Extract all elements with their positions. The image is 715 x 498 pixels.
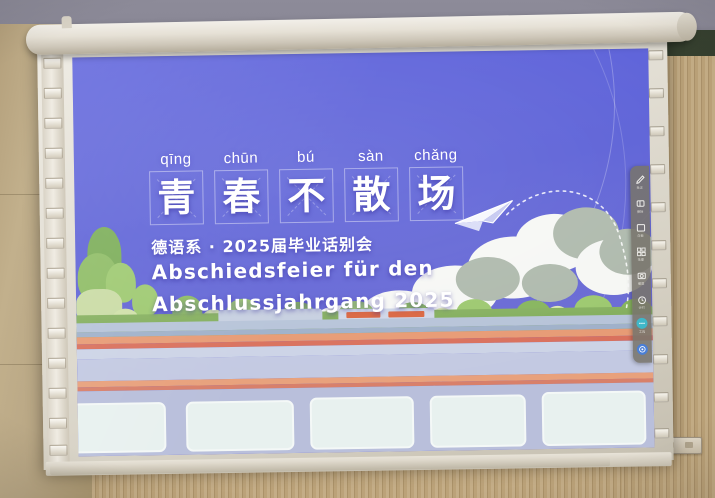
timer-icon (637, 294, 647, 304)
toolbar-label-pen: 批注 (637, 185, 643, 189)
toolbar-item-timer[interactable]: 计时 (632, 291, 651, 313)
subtitle-german-line2: Abschlussjahrgang 2025 (152, 287, 455, 316)
hanzi-1: 春 (222, 178, 261, 217)
projector-screen: qīng 青 chūn 春 bú 不 (37, 30, 674, 470)
grid-box-2: 不 (279, 168, 334, 223)
toolbar-label-timer: 计时 (639, 305, 645, 309)
pinyin-1: chūn (223, 150, 258, 168)
subtitle-chinese: 德语系 · 2025届毕业话别会 (151, 231, 373, 258)
headline-cell-4: chǎng 场 (408, 146, 465, 221)
headline-cell-3: sàn 散 (343, 147, 400, 222)
headline-cell-0: qīng 青 (148, 150, 205, 225)
pinyin-4: chǎng (414, 146, 458, 164)
grid-box-4: 场 (409, 166, 464, 221)
grid-box-1: 春 (214, 169, 269, 224)
toolbar-item-capture[interactable]: 截屏 (632, 267, 651, 289)
hanzi-0: 青 (157, 179, 196, 218)
assist-icon (637, 344, 648, 355)
toolbar-label-grid: 批量 (638, 257, 644, 261)
more-icon (636, 318, 647, 329)
headline-cell-2: bú 不 (278, 148, 335, 223)
toolbar-label-capture: 截屏 (638, 281, 644, 285)
hanzi-4: 场 (417, 174, 456, 213)
headline-cell-1: chūn 春 (213, 149, 270, 224)
grid-box-0: 青 (149, 170, 204, 225)
screenshot-root: qīng 青 chūn 春 bú 不 (0, 0, 715, 498)
toolbar-label-frame: 白板 (637, 233, 643, 237)
projected-slide: qīng 青 chūn 春 bú 不 (72, 48, 654, 456)
toolbar-item-grid[interactable]: 批量 (631, 243, 650, 265)
pinyin-2: bú (297, 149, 315, 166)
grid-box-3: 散 (344, 167, 399, 222)
toolbar-item-eraser[interactable]: 擦除 (630, 195, 649, 217)
toolbar-label-more: 工具 (639, 330, 645, 334)
slide-headline: qīng 青 chūn 春 bú 不 (148, 146, 465, 225)
pinyin-3: sàn (358, 148, 384, 165)
toolbar-item-pen[interactable]: 批注 (630, 171, 649, 193)
frame-icon (635, 222, 645, 232)
eraser-icon (635, 198, 645, 208)
subtitle-german-line1: Abschiedsfeier für den (151, 256, 434, 284)
plane-trail-icon (504, 178, 646, 320)
toolbar-label-eraser: 擦除 (637, 209, 643, 213)
pinyin-0: qīng (160, 151, 191, 168)
roller-mount-knob (61, 16, 71, 28)
capture-icon (636, 270, 646, 280)
hanzi-3: 散 (352, 175, 391, 214)
side-toolbar[interactable]: 批注 擦除 白板 批量 截屏 (630, 166, 652, 363)
screen-left-rail (41, 44, 70, 466)
grid-icon (636, 246, 646, 256)
toolbar-item-assist[interactable] (633, 339, 652, 361)
toolbar-item-frame[interactable]: 白板 (631, 219, 650, 241)
pen-icon (635, 174, 645, 184)
toolbar-item-more[interactable]: 工具 (632, 315, 651, 337)
hanzi-2: 不 (287, 176, 326, 215)
